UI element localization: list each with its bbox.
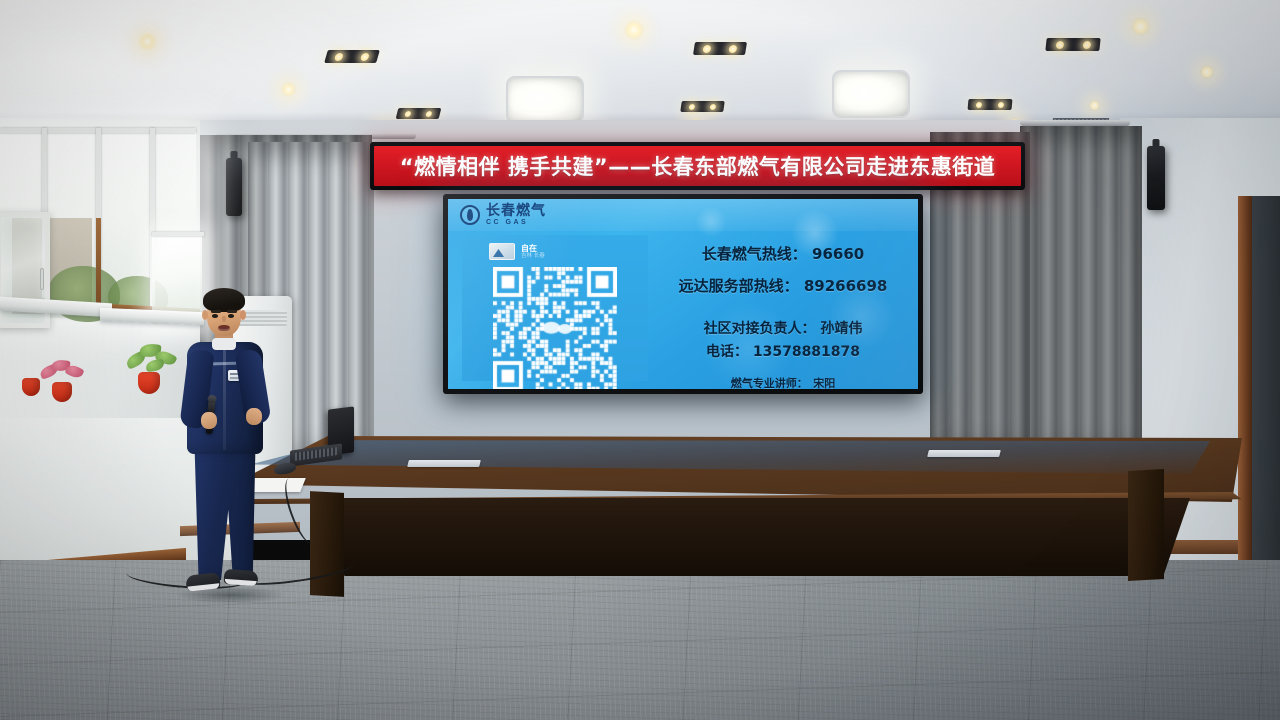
conference-table-apron	[300, 498, 1190, 576]
qr-code[interactable]	[493, 267, 617, 389]
window-wood-frame	[96, 218, 101, 314]
downlight-icon	[138, 32, 157, 51]
potted-plant-pot	[22, 378, 40, 396]
banner-surface: “燃情相伴 携手共建”——长春东部燃气有限公司走进东惠街道	[374, 146, 1021, 186]
spot-light-bar	[968, 99, 1013, 110]
table-nameplate	[407, 460, 481, 467]
room-scene: “燃情相伴 携手共建”——长春东部燃气有限公司走进东惠街道 长春燃气 CC GA…	[0, 0, 1280, 720]
wall-speaker-left	[226, 158, 242, 216]
screen-surface: 长春燃气 CC GAS 自在 吉林 长春 扫	[448, 199, 918, 389]
curtain-right	[1020, 126, 1142, 466]
presenter-brow	[227, 310, 237, 313]
presenter-nose	[222, 316, 226, 322]
presenter-brow	[211, 310, 221, 313]
brand-name-cn: 长春燃气	[486, 204, 546, 218]
ceiling-panel-light	[832, 70, 910, 118]
presenter-hand	[201, 412, 217, 429]
presenter-eye	[228, 314, 234, 318]
spot-light-bar	[1045, 38, 1100, 51]
brand-logo-text: 长春燃气 CC GAS	[486, 204, 546, 226]
hotline-changchun-gas: 长春燃气热线： 96660	[702, 243, 864, 264]
hotline-yuanda-service: 远达服务部热线： 89266698	[679, 275, 888, 296]
screen-header: 长春燃气 CC GAS	[448, 199, 918, 231]
table-leg	[1128, 469, 1164, 581]
table-leg	[310, 491, 344, 597]
presenter-trousers	[192, 450, 258, 580]
spot-light-bar	[396, 108, 442, 119]
window-handle[interactable]	[40, 268, 44, 290]
downlight-icon	[1131, 17, 1150, 36]
presenter-inner-shirt	[212, 338, 236, 350]
presenter-mouth	[218, 325, 230, 331]
gas-instructor-name: 燃气专业讲师： 宋阳	[731, 375, 836, 389]
screen-body: 自在 吉林 长春 扫一扫上面的二维码图案，加我为朋友。 长春燃气热线： 9666…	[448, 231, 918, 389]
potted-plant-leaves	[40, 358, 86, 386]
spot-light-bar	[324, 50, 380, 63]
qr-profile-name: 自在	[521, 244, 545, 253]
uniform-placket	[223, 346, 226, 450]
gas-flame-logo-icon	[460, 205, 480, 225]
banner-text: “燃情相伴 携手共建”——长春东部燃气有限公司走进东惠街道	[400, 151, 995, 181]
presenter-eye	[212, 314, 218, 318]
led-banner: “燃情相伴 携手共建”——长春东部燃气有限公司走进东惠街道	[370, 142, 1025, 190]
window-mullion	[152, 232, 204, 236]
qr-profile-text: 自在 吉林 长春	[521, 244, 545, 260]
community-contact-person: 社区对接负责人： 孙靖伟	[704, 318, 863, 338]
spot-light-bar	[680, 101, 725, 112]
downlight-icon	[1200, 65, 1214, 79]
ceiling-panel-light	[506, 76, 584, 124]
downlight-icon	[624, 20, 644, 40]
presenter-ear	[240, 310, 246, 320]
display-screen[interactable]: 长春燃气 CC GAS 自在 吉林 长春 扫	[443, 194, 923, 394]
table-nameplate	[927, 450, 1001, 457]
spot-light-bar	[693, 42, 747, 55]
presenter-ear	[202, 310, 208, 320]
downlight-icon	[1089, 100, 1100, 111]
qr-profile-location: 吉林 长春	[521, 253, 545, 259]
wall-speaker-right	[1147, 146, 1165, 210]
avatar	[489, 243, 515, 260]
brand-name-en: CC GAS	[486, 219, 546, 226]
downlight-icon	[281, 82, 296, 97]
presenter-shoe	[224, 569, 259, 586]
contact-info-panel: 长春燃气热线： 96660 远达服务部热线： 89266698 社区对接负责人：…	[648, 231, 918, 389]
door-panel	[1252, 196, 1280, 596]
qr-panel: 自在 吉林 长春 扫一扫上面的二维码图案，加我为朋友。	[462, 235, 648, 381]
door-frame	[1238, 196, 1252, 596]
presenter-hair	[203, 288, 245, 312]
qr-profile: 自在 吉林 长春	[489, 243, 621, 260]
presenter	[170, 286, 280, 616]
community-contact-phone: 电话： 13578881878	[706, 341, 860, 361]
presenter-hand	[246, 408, 262, 425]
